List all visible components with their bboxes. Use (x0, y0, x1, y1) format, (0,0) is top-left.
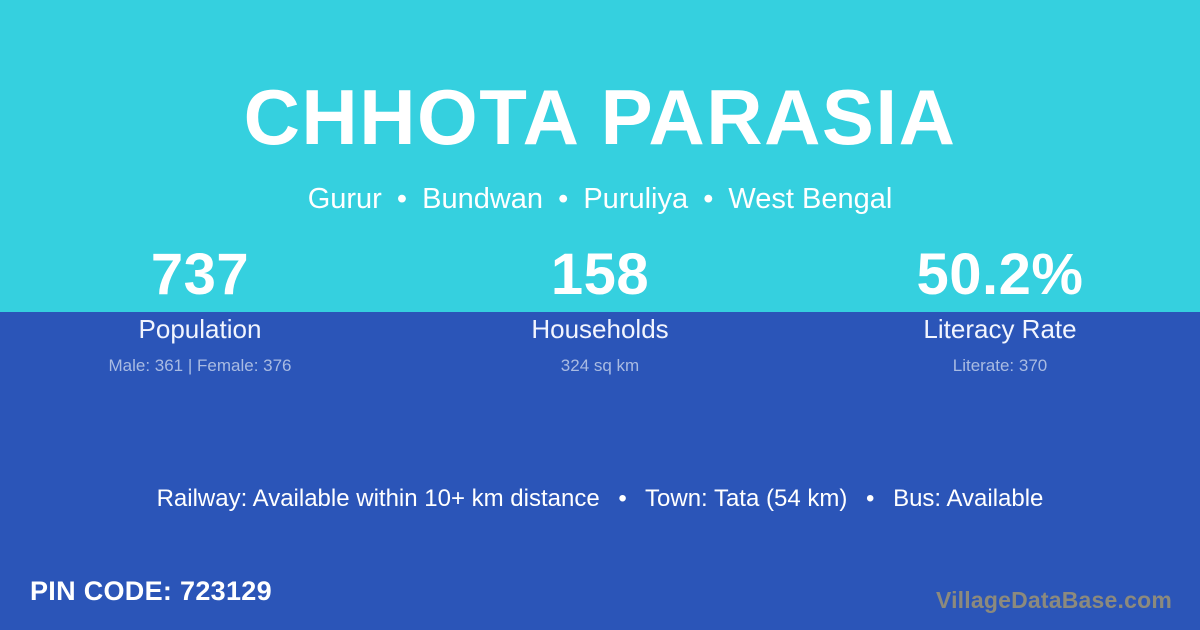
village-info-card: CHHOTA PARASIA Gurur • Bundwan • Puruliy… (0, 0, 1200, 630)
stat-population: 737 Population Male: 361 | Female: 376 (0, 244, 400, 377)
connectivity-railway: Railway: Available within 10+ km distanc… (157, 485, 600, 512)
connectivity-town: Town: Tata (54 km) (645, 485, 847, 512)
breadcrumb-item-state: West Bengal (728, 183, 892, 215)
stat-households: 158 Households 324 sq km (400, 244, 800, 377)
breadcrumb-item-district: Puruliya (583, 183, 688, 215)
stat-population-label: Population (0, 314, 400, 344)
page-title: CHHOTA PARASIA (0, 78, 1200, 156)
connectivity-line: Railway: Available within 10+ km distanc… (0, 484, 1200, 514)
stat-households-value: 158 (400, 244, 800, 312)
breadcrumb-separator-icon: • (551, 183, 575, 215)
stat-literacy-sub: Literate: 370 (800, 355, 1200, 377)
breadcrumb-item-block: Gurur (308, 183, 382, 215)
breadcrumb-separator-icon: • (390, 183, 414, 215)
site-watermark: VillageDataBase.com (936, 586, 1172, 614)
stat-population-sub: Male: 361 | Female: 376 (0, 355, 400, 377)
connectivity-separator-icon: • (606, 485, 638, 512)
breadcrumb-separator-icon: • (696, 183, 720, 215)
breadcrumb: Gurur • Bundwan • Puruliya • West Bengal (0, 182, 1200, 217)
stats-row: 737 Population Male: 361 | Female: 376 1… (0, 244, 1200, 377)
stat-households-label: Households (400, 314, 800, 344)
connectivity-separator-icon: • (854, 485, 886, 512)
stat-population-value: 737 (0, 244, 400, 312)
stat-households-sub: 324 sq km (400, 355, 800, 377)
stat-literacy-label: Literacy Rate (800, 314, 1200, 344)
stat-literacy-value: 50.2% (800, 244, 1200, 312)
connectivity-bus: Bus: Available (893, 485, 1043, 512)
breadcrumb-item-subdistrict: Bundwan (422, 183, 543, 215)
pin-code: PIN CODE: 723129 (30, 575, 272, 607)
stat-literacy: 50.2% Literacy Rate Literate: 370 (800, 244, 1200, 377)
